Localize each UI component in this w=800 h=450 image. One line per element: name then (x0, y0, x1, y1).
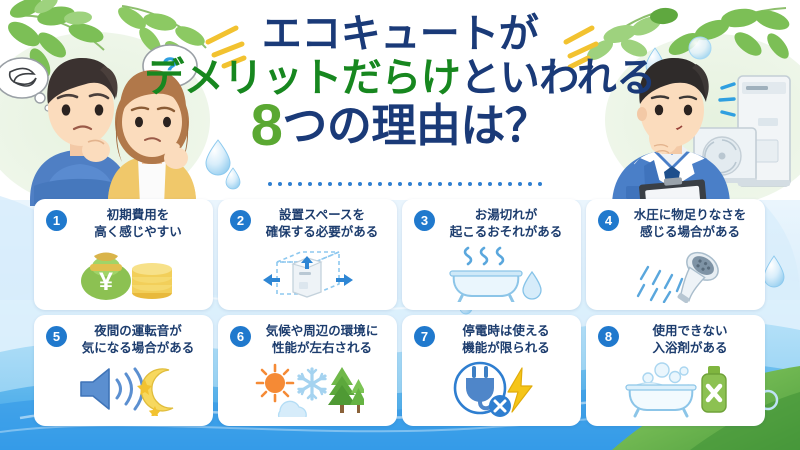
reason-card-header: 1初期費用を 高く感じやすい (40, 207, 207, 241)
infographic-canvas: ? (0, 0, 800, 450)
speaker-moon-icon (40, 357, 207, 422)
reason-number-badge: 7 (414, 326, 435, 347)
reason-text: 夜間の運転音が 気になる場合がある (73, 323, 207, 357)
svg-text:¥: ¥ (99, 268, 113, 296)
reason-card-5[interactable]: 5夜間の運転音が 気になる場合がある (34, 315, 213, 426)
reason-number-badge: 4 (598, 210, 619, 231)
reason-number-badge: 8 (598, 326, 619, 347)
reason-card-1[interactable]: 1初期費用を 高く感じやすい ¥ (34, 199, 213, 310)
reason-text: 設置スペースを 確保する必要がある (257, 207, 391, 241)
reason-number-badge: 3 (414, 210, 435, 231)
reason-card-6[interactable]: 6気候や周辺の環境に 性能が左右される (218, 315, 397, 426)
reasons-card-grid: 1初期費用を 高く感じやすい ¥ 2設置スペースを 確保する必要がある 3お湯切… (34, 199, 766, 426)
reason-card-4[interactable]: 4水圧に物足りなさを 感じる場合がある (586, 199, 765, 310)
reason-card-header: 5夜間の運転音が 気になる場合がある (40, 323, 207, 357)
reason-card-header: 7停電時は使える 機能が限られる (408, 323, 575, 357)
reason-text: お湯切れが 起こるおそれがある (441, 207, 575, 241)
reason-text: 水圧に物足りなさを 感じる場合がある (625, 207, 759, 241)
reason-card-7[interactable]: 7停電時は使える 機能が限られる (402, 315, 581, 426)
reason-card-header: 3お湯切れが 起こるおそれがある (408, 207, 575, 241)
reason-card-2[interactable]: 2設置スペースを 確保する必要がある (218, 199, 397, 310)
reason-number-badge: 2 (230, 210, 251, 231)
reason-card-3[interactable]: 3お湯切れが 起こるおそれがある (402, 199, 581, 310)
reason-text: 初期費用を 高く感じやすい (73, 207, 207, 241)
reason-number-badge: 6 (230, 326, 251, 347)
plug-bolt-blocked-icon (408, 357, 575, 422)
sun-snow-tree-icon (224, 357, 391, 422)
reason-card-header: 2設置スペースを 確保する必要がある (224, 207, 391, 241)
headline-underline-dots (268, 182, 536, 186)
reason-card-header: 6気候や周辺の環境に 性能が左右される (224, 323, 391, 357)
bathtub-steam-icon (408, 241, 575, 306)
money-bag-coins-icon: ¥ (40, 241, 207, 306)
reason-card-8[interactable]: 8使用できない 入浴剤がある (586, 315, 765, 426)
reason-text: 停電時は使える 機能が限られる (441, 323, 575, 357)
reason-number-badge: 5 (46, 326, 67, 347)
reason-card-header: 8使用できない 入浴剤がある (592, 323, 759, 357)
reason-text: 使用できない 入浴剤がある (625, 323, 759, 357)
unit-space-arrows-icon (224, 241, 391, 306)
shower-head-icon (592, 241, 759, 306)
reason-card-header: 4水圧に物足りなさを 感じる場合がある (592, 207, 759, 241)
reason-number-badge: 1 (46, 210, 67, 231)
reason-text: 気候や周辺の環境に 性能が左右される (257, 323, 391, 357)
bathtub-bath-salt-blocked-icon (592, 357, 759, 422)
